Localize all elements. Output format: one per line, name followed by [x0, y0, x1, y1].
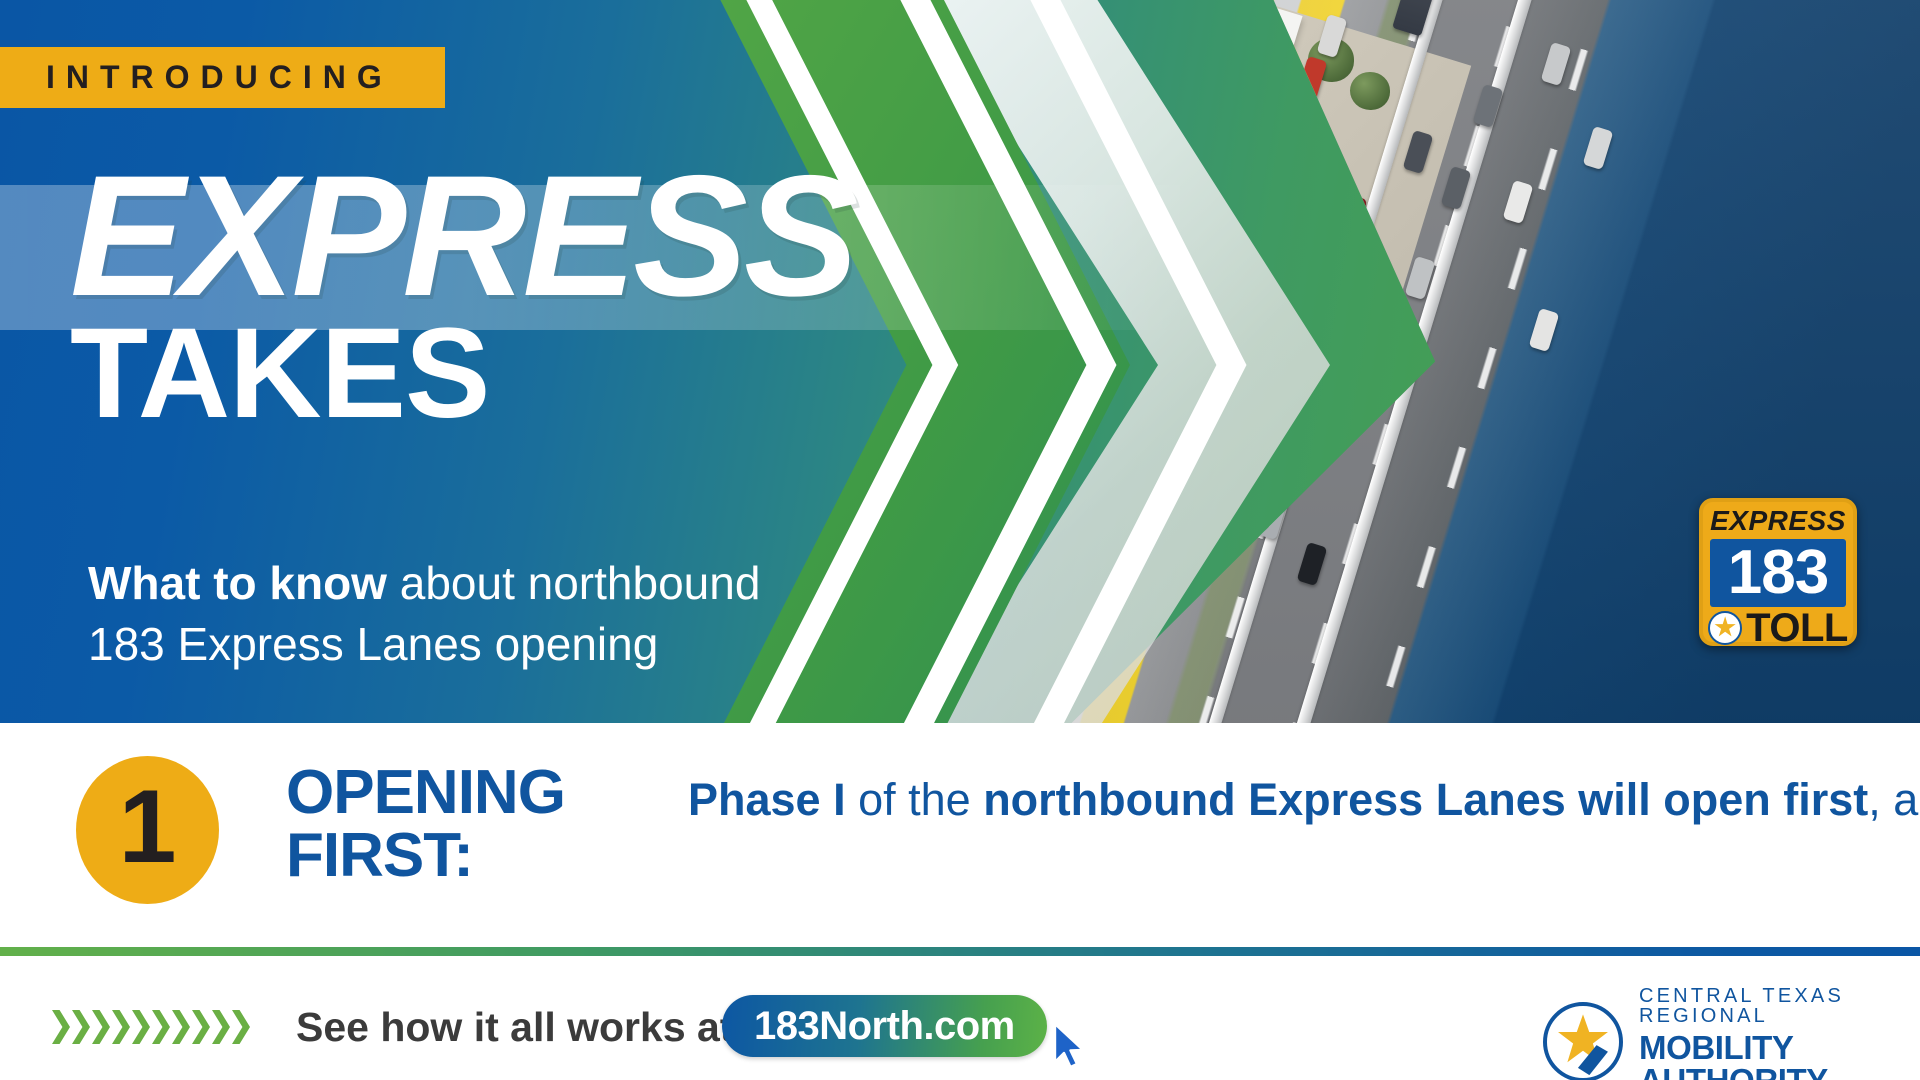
step-body-highlight: northbound Express Lanes will open first: [983, 774, 1868, 825]
step-body-tail: , anticipated no later than January 10, …: [1868, 774, 1920, 825]
shield-express-label: EXPRESS: [1703, 507, 1853, 535]
hero-subheadline-bold: What to know: [88, 557, 387, 609]
vehicle-car-1: [1235, 50, 1266, 94]
ctrma-line1: CENTRAL TEXAS REGIONAL: [1639, 986, 1920, 1026]
road-swoosh-icon: [1578, 1045, 1608, 1075]
chevron-right-icon: [172, 1010, 190, 1044]
headline-express: EXPRESS: [70, 150, 855, 322]
shield-toll-label: TOLL: [1746, 608, 1848, 648]
vehicle-car-4: [1257, 178, 1288, 222]
vehicle-car-6: [1337, 194, 1368, 238]
shield-toll-row: TOLL: [1703, 608, 1853, 648]
ctrma-logo: CENTRAL TEXAS REGIONAL MOBILITY AUTHORIT…: [1543, 986, 1920, 1080]
chevron-right-icon: [212, 1010, 230, 1044]
step-number: 1: [119, 775, 177, 879]
step-body-connector: of the: [846, 774, 984, 825]
vehicle-car-5: [1273, 204, 1304, 248]
infographic-page: INTRODUCING EXPRESS TAKES What to know a…: [0, 0, 1920, 1080]
ctrma-wordmark: CENTRAL TEXAS REGIONAL MOBILITY AUTHORIT…: [1639, 986, 1920, 1080]
footer-cta-text: See how it all works at: [296, 1005, 733, 1049]
vehicle-car-17: [1175, 330, 1206, 374]
hero-subheadline-line2: 183 Express Lanes opening: [88, 614, 760, 675]
chevron-white-1: [726, 0, 1156, 723]
hero-subheadline-rest: about northbound: [387, 557, 760, 609]
vehicle-car-16: [1297, 358, 1328, 402]
shield-route-number: 183: [1710, 539, 1846, 607]
chevron-right-icon: [112, 1010, 130, 1044]
introducing-label: INTRODUCING: [46, 61, 393, 93]
chevron-right-icon: [232, 1010, 250, 1044]
step-body-line1: Phase I of the northbound Express Lanes …: [688, 770, 1920, 830]
chevron-right-icon: [192, 1010, 210, 1044]
step-section: 1 OPENING FIRST: Phase I of the northbou…: [0, 723, 1920, 947]
url-label: 183North.com: [754, 1004, 1015, 1049]
gradient-divider: [0, 947, 1920, 956]
hero-banner: INTRODUCING EXPRESS TAKES What to know a…: [0, 0, 1920, 723]
tree-2: [1350, 72, 1390, 110]
star-badge-icon: [1708, 611, 1742, 645]
step-number-badge: 1: [76, 756, 219, 904]
step-body-phase: Phase I: [688, 774, 846, 825]
introducing-badge: INTRODUCING: [0, 47, 445, 108]
footer-chevrons: [52, 1010, 250, 1044]
vehicle-car-15: [1241, 350, 1272, 394]
building-1: [1131, 0, 1302, 107]
vehicle-car-21: [1097, 522, 1128, 566]
step-body: Phase I of the northbound Express Lanes …: [688, 770, 1920, 830]
star-road-circle-icon: [1543, 1002, 1623, 1080]
url-button[interactable]: 183North.com: [722, 995, 1047, 1057]
chevron-right-icon: [132, 1010, 150, 1044]
chevron-right-icon: [52, 1010, 70, 1044]
chevron-right-icon: [92, 1010, 110, 1044]
tree-3: [1210, 138, 1250, 176]
chevron-right-icon: [152, 1010, 170, 1044]
mouse-pointer-icon: [1052, 1022, 1088, 1070]
ctrma-line2: MOBILITY AUTHORITY: [1639, 1031, 1920, 1080]
hero-subheadline: What to know about northbound 183 Expres…: [88, 553, 760, 674]
chevron-green: [700, 0, 1130, 723]
headline-takes: TAKES: [70, 310, 489, 438]
express-183-toll-shield: EXPRESS 183 TOLL: [1699, 498, 1857, 646]
hero-subheadline-line1: What to know about northbound: [88, 553, 760, 614]
chevron-right-icon: [72, 1010, 90, 1044]
step-title: OPENING FIRST:: [286, 761, 565, 887]
